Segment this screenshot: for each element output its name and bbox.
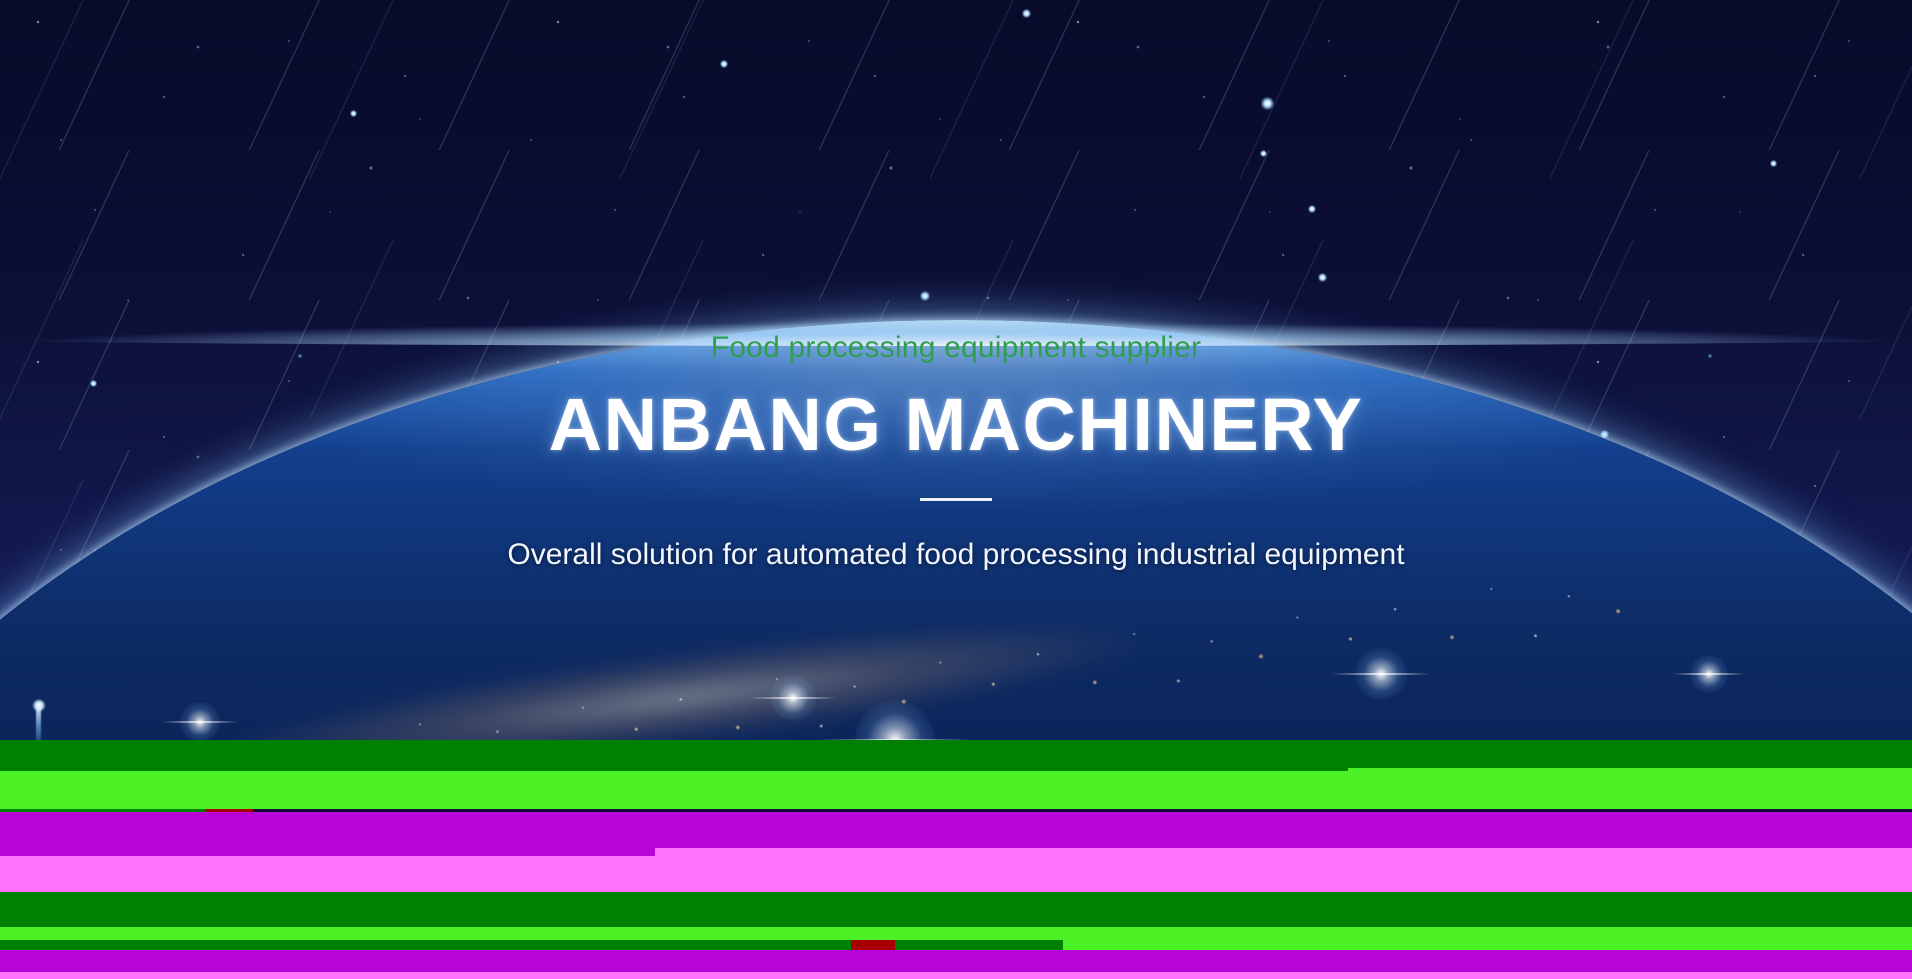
hero-banner: Food processing equipment supplier ANBAN… <box>0 0 1912 740</box>
band-dark-green-1 <box>0 740 1348 771</box>
hero-subhead: Overall solution for automated food proc… <box>0 501 1912 573</box>
hero-headline: ANBANG MACHINERY <box>0 363 1912 465</box>
band-bright-green-1 <box>0 771 1348 809</box>
band-dark-green-1b <box>1348 740 1912 768</box>
band-thin-red-2 <box>205 809 253 817</box>
band-dark-green-2 <box>0 892 1912 927</box>
band-bright-green-2b <box>1202 927 1912 959</box>
band-thin-green-2 <box>0 809 253 817</box>
band-thin-red-3 <box>851 940 895 950</box>
band-purple-1 <box>0 812 1912 848</box>
light-beam <box>36 704 41 740</box>
hero-copy: Food processing equipment supplier ANBAN… <box>0 0 1912 573</box>
band-pink-1b <box>0 856 655 892</box>
band-bright-green-1b <box>1348 768 1912 809</box>
band-purple-2 <box>0 950 1912 975</box>
band-pink-2 <box>0 972 1912 979</box>
band-purple-1-step <box>0 848 655 856</box>
hero-divider-wrap <box>0 465 1912 501</box>
band-pink-1 <box>655 848 1912 892</box>
band-thin-green-3 <box>0 940 1063 950</box>
hero-eyebrow: Food processing equipment supplier <box>0 0 1912 363</box>
screen-root: Food processing equipment supplier ANBAN… <box>0 0 1912 979</box>
hero-divider <box>920 498 992 501</box>
band-bright-green-2 <box>0 927 1202 965</box>
